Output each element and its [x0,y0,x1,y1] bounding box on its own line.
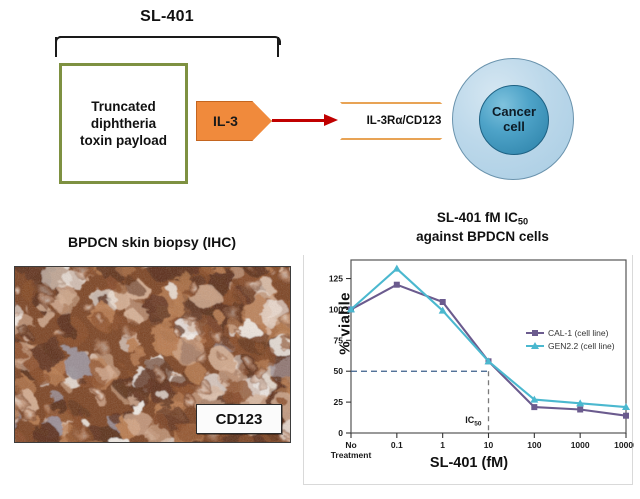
payload-line-1: Truncated [91,99,156,114]
legend-label: CAL-1 (cell line) [548,328,609,338]
chart-title-line-1: SL-401 fM IC [437,210,518,225]
mechanism-diagram: SL-401 Truncated diphtheria toxin payloa… [0,0,640,205]
legend-swatch-marker [532,330,538,336]
x-tick-label: 1000 [571,440,590,450]
x-tick-label: 10000 [614,440,634,450]
series-marker [623,413,629,419]
x-tick-label: 10 [484,440,494,450]
x-tick-label: No [345,440,356,450]
arrow-head [324,114,338,126]
y-tick-label: 75 [334,335,344,345]
chart-title-line-2: against BPDCN cells [416,229,549,244]
x-tick-label: Treatment [331,450,372,460]
payload-box-label: Truncated diphtheria toxin payload [80,98,167,150]
receptor-arrow: IL-3Rα/CD123 [340,102,462,140]
cancer-cell-label: Cancer cell [492,105,536,135]
payload-line-2: diphtheria [91,116,156,131]
il3-ligand-label: IL-3 [197,113,238,129]
binding-arrow-icon [272,112,342,130]
drug-bracket [55,36,279,58]
viability-chart-panel: % viable SL-401 (fM) 0255075100125NoTrea… [303,255,633,485]
cancer-label-line-1: Cancer [492,104,536,119]
y-tick-label: 125 [329,274,343,284]
series-marker [531,404,537,410]
y-tick-label: 0 [338,428,343,438]
bracket-right-leg [277,37,279,57]
payload-line-3: toxin payload [80,133,167,148]
bracket-left-leg [55,37,57,57]
ihc-panel-title: BPDCN skin biopsy (IHC) [14,234,290,250]
cd123-label: CD123 [216,411,263,428]
y-tick-label: 100 [329,304,343,314]
drug-title: SL-401 [55,8,279,26]
receptor-label: IL-3Rα/CD123 [361,115,442,127]
cancer-cell-nucleus: Cancer cell [479,85,549,155]
x-tick-label: 100 [527,440,541,450]
y-tick-label: 25 [334,397,344,407]
cd123-marker-badge: CD123 [196,404,282,434]
chart-title: SL-401 fM IC50 against BPDCN cells [390,209,575,245]
series-marker [577,407,583,413]
y-tick-label: 50 [334,366,344,376]
chart-svg: 0255075100125NoTreatment0.11101001000100… [304,255,634,485]
x-tick-label: 1 [440,440,445,450]
il3-ligand-arrow: IL-3 [196,101,272,141]
legend-label: GEN2.2 (cell line) [548,341,615,351]
cancer-label-line-2: cell [503,119,525,134]
cancer-cell-shape: Cancer cell [452,58,574,180]
arrow-shaft [272,119,327,122]
x-tick-label: 0.1 [391,440,403,450]
series-marker [440,299,446,305]
bracket-horizontal-bar [59,36,275,38]
payload-box: Truncated diphtheria toxin payload [59,63,188,184]
figure-root: SL-401 Truncated diphtheria toxin payloa… [0,0,640,499]
chart-title-subscript: 50 [518,216,528,226]
series-marker [394,282,400,288]
